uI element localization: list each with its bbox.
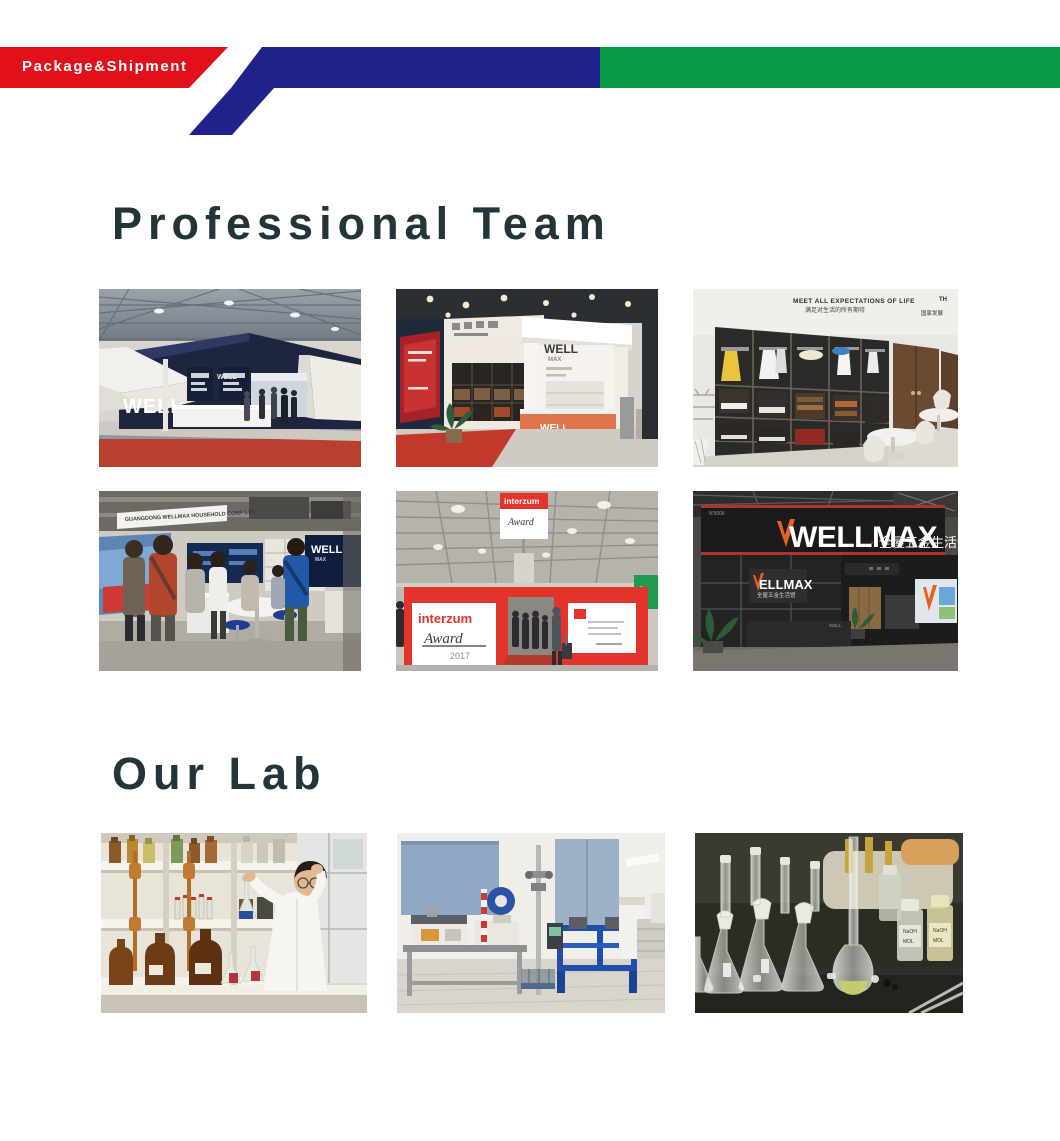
banner-label: Package&Shipment [22,58,188,75]
svg-text:N'5006: N'5006 [709,511,725,517]
svg-text:满足对生活的所有期待: 满足对生活的所有期待 [805,306,865,314]
svg-text:全屋五金生活馆: 全屋五金生活馆 [757,591,796,599]
page-banner: Package&Shipment [0,0,1060,150]
photo-lab-technician-titration: Lab technician in white coat handling gl… [101,833,367,1013]
photo-exhibition-booth-wellmax-dark: WELLMAX dark navy exhibition booth with … [99,289,361,467]
photo-grid-professional-team: WELLMAX dark navy exhibition booth with … [99,289,959,671]
svg-text:WELL: WELL [217,374,238,381]
section-title-professional-team: Professional Team [112,198,611,250]
photo-booth-visitors-crowd: Crowded trade fair booth with visitors b… [99,491,361,671]
banner-ribbon-graphic [0,0,1060,150]
svg-text:NaOH: NaOH [933,928,947,934]
svg-text:国家发展: 国家发展 [921,309,944,317]
photo-interzum-award-hall: interzum Award 2017 exhibition hall entr… [396,491,658,671]
svg-text:Award: Award [507,517,535,528]
svg-text:WELL: WELL [311,544,342,556]
svg-text:ELLMAX: ELLMAX [759,577,813,592]
banner-green-bar [600,47,1060,88]
svg-text:MEET ALL EXPECTATIONS OF LIFE: MEET ALL EXPECTATIONS OF LIFE [793,298,915,305]
svg-text:interzum: interzum [418,611,472,626]
photo-lab-testing-equipment: Testing laboratory room with blue steel … [397,833,665,1013]
banner-blue-bar [231,47,600,88]
svg-text:MOL: MOL [903,939,914,945]
svg-text:WELL: WELL [829,623,842,628]
svg-text:Award: Award [423,631,463,647]
svg-text:': ' [871,540,873,552]
svg-text:WELL: WELL [544,342,578,356]
photo-wardrobe-showroom: Wardrobe and closet system showroom with… [693,289,958,467]
svg-text:MAX: MAX [315,557,327,563]
svg-text:2017: 2017 [450,651,470,661]
photo-wellmax-storefront: WELLMAX illuminated storefront facade wi… [693,491,958,671]
svg-text:TH: TH [939,297,947,303]
section-title-our-lab: Our Lab [112,748,327,800]
banner-blue-parallelogram [189,88,274,135]
svg-text:全屋五金生活馆: 全屋五金生活馆 [879,535,958,551]
svg-text:MAX: MAX [548,357,561,363]
photo-exhibition-booth-wellmax-white: White and salmon WELLMAX trade show boot… [396,289,658,467]
photo-grid-our-lab: Lab technician in white coat handling gl… [101,833,963,1013]
svg-text:A1 4209: A1 4209 [199,522,217,528]
photo-lab-glassware-closeup: Close-up of volumetric flasks and reagen… [695,833,963,1013]
svg-text:interzum: interzum [504,496,540,506]
svg-text:NaOH: NaOH [903,929,917,935]
svg-text:MOL: MOL [933,938,944,944]
